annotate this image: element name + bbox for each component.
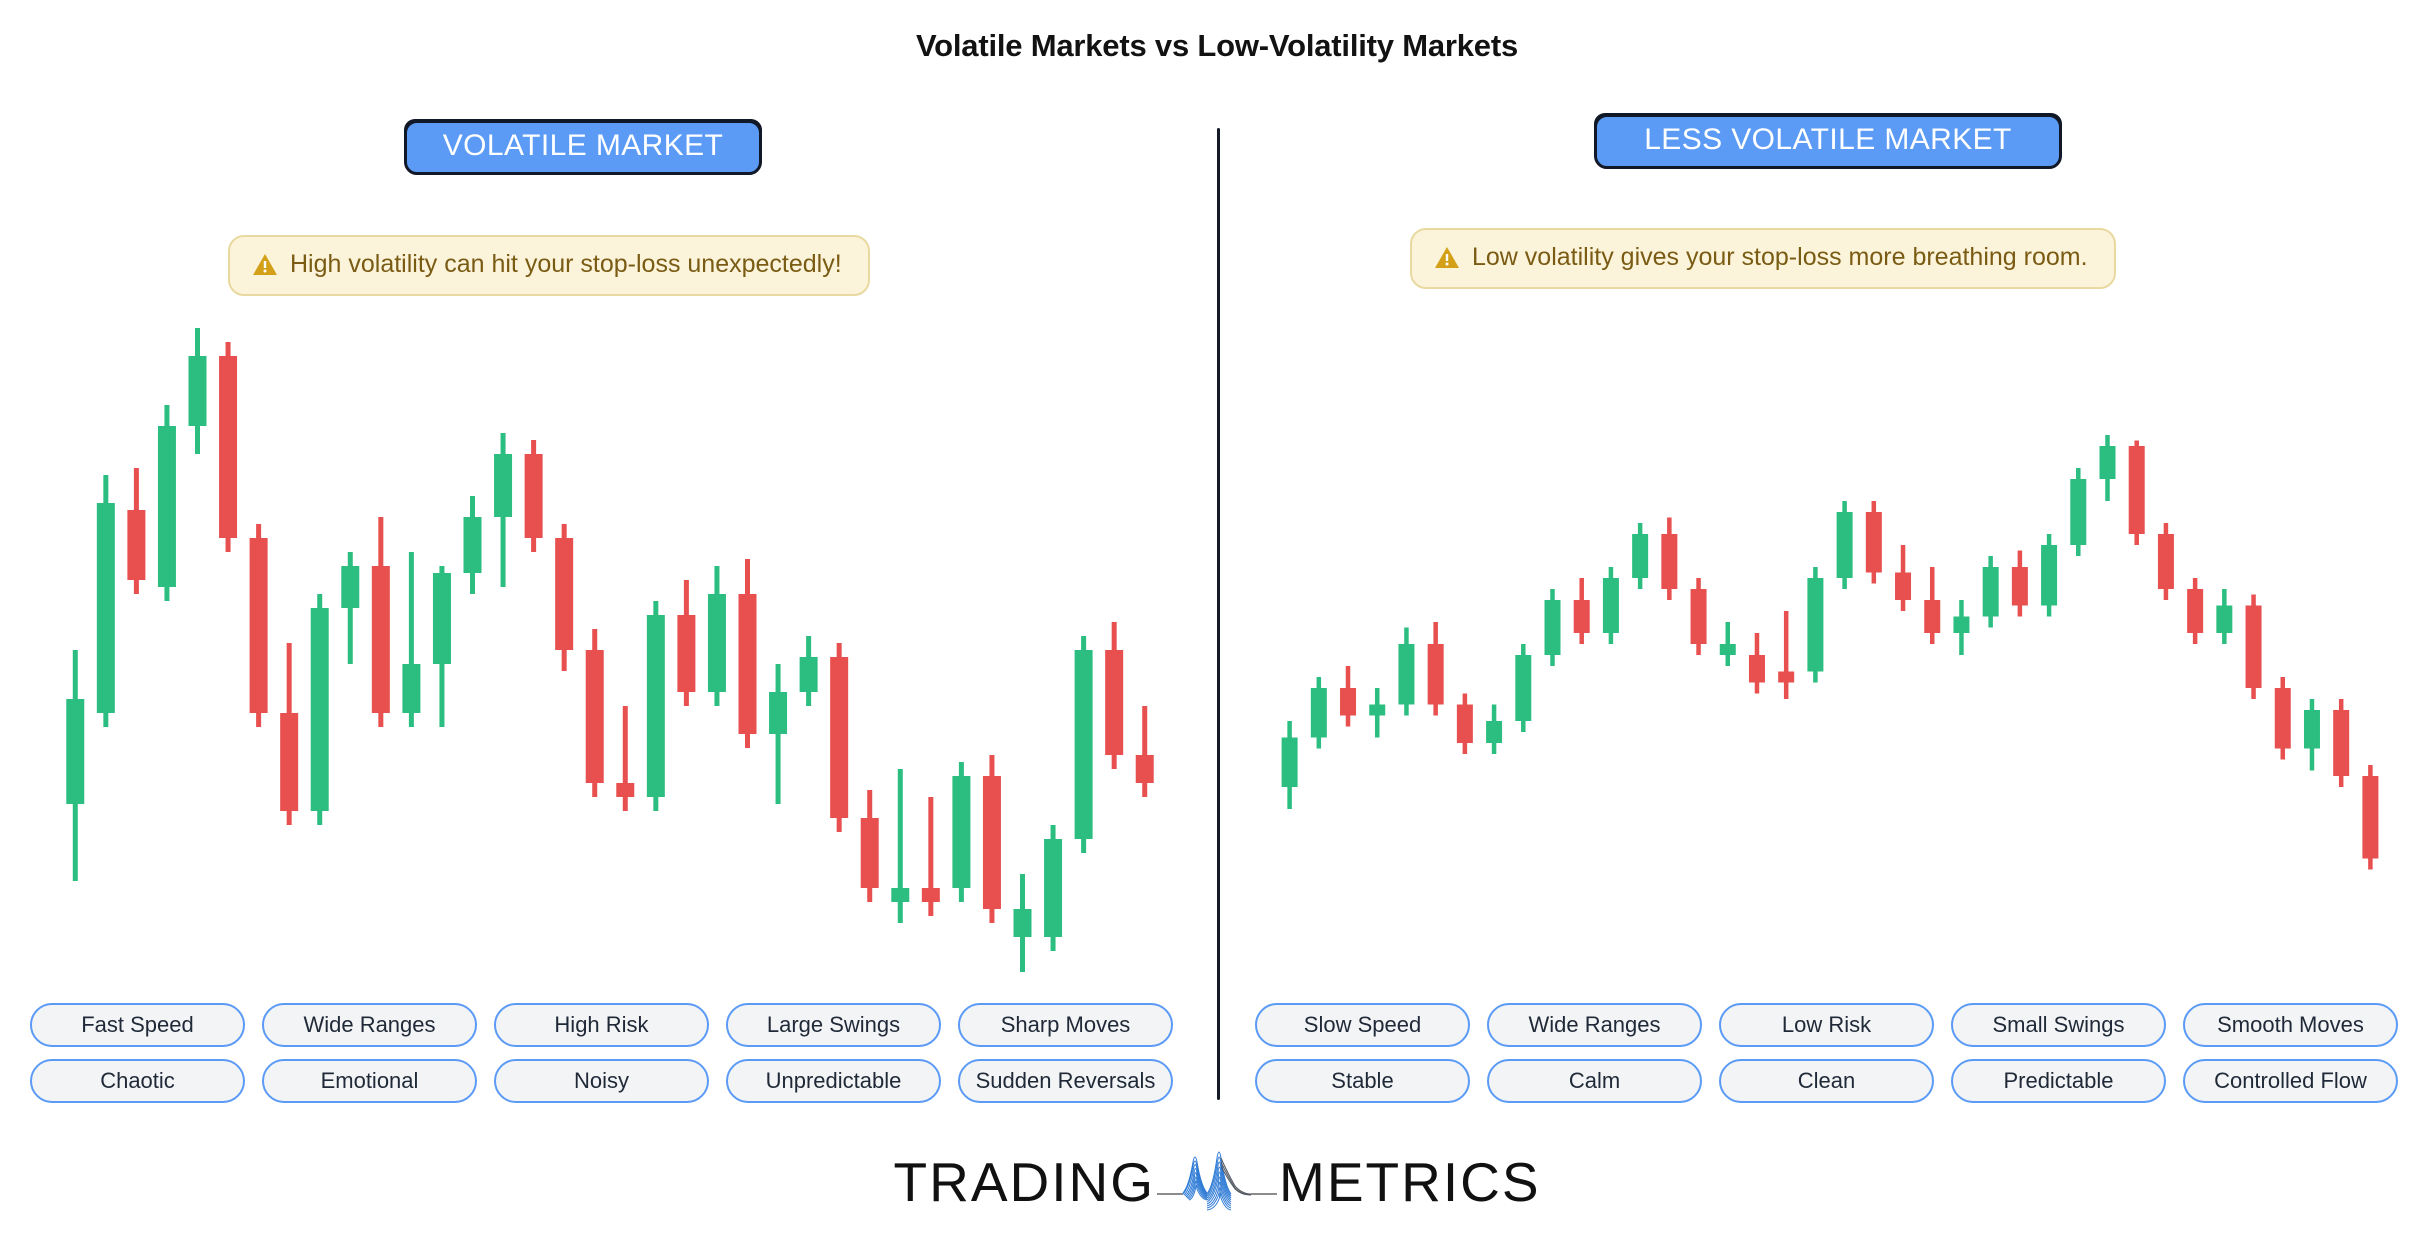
- warning-triangle-icon: [252, 253, 278, 277]
- tag-pill[interactable]: Sharp Moves: [958, 1003, 1173, 1047]
- less-volatile-tags: Slow Speed Wide Ranges Low Risk Small Sw…: [1255, 1003, 2415, 1103]
- volatile-market-chart: [60, 300, 1160, 1000]
- less-volatile-market-badge[interactable]: LESS VOLATILE MARKET: [1596, 116, 2060, 167]
- tag-pill[interactable]: Slow Speed: [1255, 1003, 1470, 1047]
- tag-pill[interactable]: Controlled Flow: [2183, 1059, 2398, 1103]
- volatile-tags: Fast Speed Wide Ranges High Risk Large S…: [30, 1003, 1190, 1103]
- volatile-tags-row-1: Fast Speed Wide Ranges High Risk Large S…: [30, 1003, 1190, 1047]
- tag-pill[interactable]: Chaotic: [30, 1059, 245, 1103]
- tag-pill[interactable]: Wide Ranges: [262, 1003, 477, 1047]
- tag-pill[interactable]: Smooth Moves: [2183, 1003, 2398, 1047]
- less-volatile-warning-text: Low volatility gives your stop-loss more…: [1472, 243, 2088, 272]
- tag-pill[interactable]: High Risk: [494, 1003, 709, 1047]
- volatile-market-badge[interactable]: VOLATILE MARKET: [406, 122, 760, 173]
- tag-pill[interactable]: Wide Ranges: [1487, 1003, 1702, 1047]
- tag-pill[interactable]: Large Swings: [726, 1003, 941, 1047]
- tag-pill[interactable]: Predictable: [1951, 1059, 2166, 1103]
- tag-pill[interactable]: Sudden Reversals: [958, 1059, 1173, 1103]
- tag-pill[interactable]: Small Swings: [1951, 1003, 2166, 1047]
- tag-pill[interactable]: Clean: [1719, 1059, 1934, 1103]
- volatile-warning-text: High volatility can hit your stop-loss u…: [290, 250, 842, 279]
- brand-logo: TRADING: [0, 1142, 2434, 1222]
- tag-pill[interactable]: Emotional: [262, 1059, 477, 1103]
- less-volatile-market-chart: [1275, 380, 2385, 930]
- logo-word-metrics: METRICS: [1279, 1150, 1541, 1214]
- tag-pill[interactable]: Fast Speed: [30, 1003, 245, 1047]
- logo-word-trading: TRADING: [894, 1150, 1156, 1214]
- volatile-tags-row-2: Chaotic Emotional Noisy Unpredictable Su…: [30, 1059, 1190, 1103]
- less-volatile-market-panel: LESS VOLATILE MARKET Low volatility give…: [1220, 0, 2434, 1238]
- tag-pill[interactable]: Noisy: [494, 1059, 709, 1103]
- tag-pill[interactable]: Stable: [1255, 1059, 1470, 1103]
- less-volatile-tags-row-2: Stable Calm Clean Predictable Controlled…: [1255, 1059, 2415, 1103]
- less-volatile-warning-banner: Low volatility gives your stop-loss more…: [1410, 228, 2116, 289]
- tag-pill[interactable]: Calm: [1487, 1059, 1702, 1103]
- tag-pill[interactable]: Low Risk: [1719, 1003, 1934, 1047]
- waveform-spike-icon: [1157, 1142, 1277, 1222]
- less-volatile-tags-row-1: Slow Speed Wide Ranges Low Risk Small Sw…: [1255, 1003, 2415, 1047]
- volatile-warning-banner: High volatility can hit your stop-loss u…: [228, 235, 870, 296]
- tag-pill[interactable]: Unpredictable: [726, 1059, 941, 1103]
- volatile-market-panel: VOLATILE MARKET High volatility can hit …: [0, 0, 1217, 1238]
- warning-triangle-icon: [1434, 246, 1460, 270]
